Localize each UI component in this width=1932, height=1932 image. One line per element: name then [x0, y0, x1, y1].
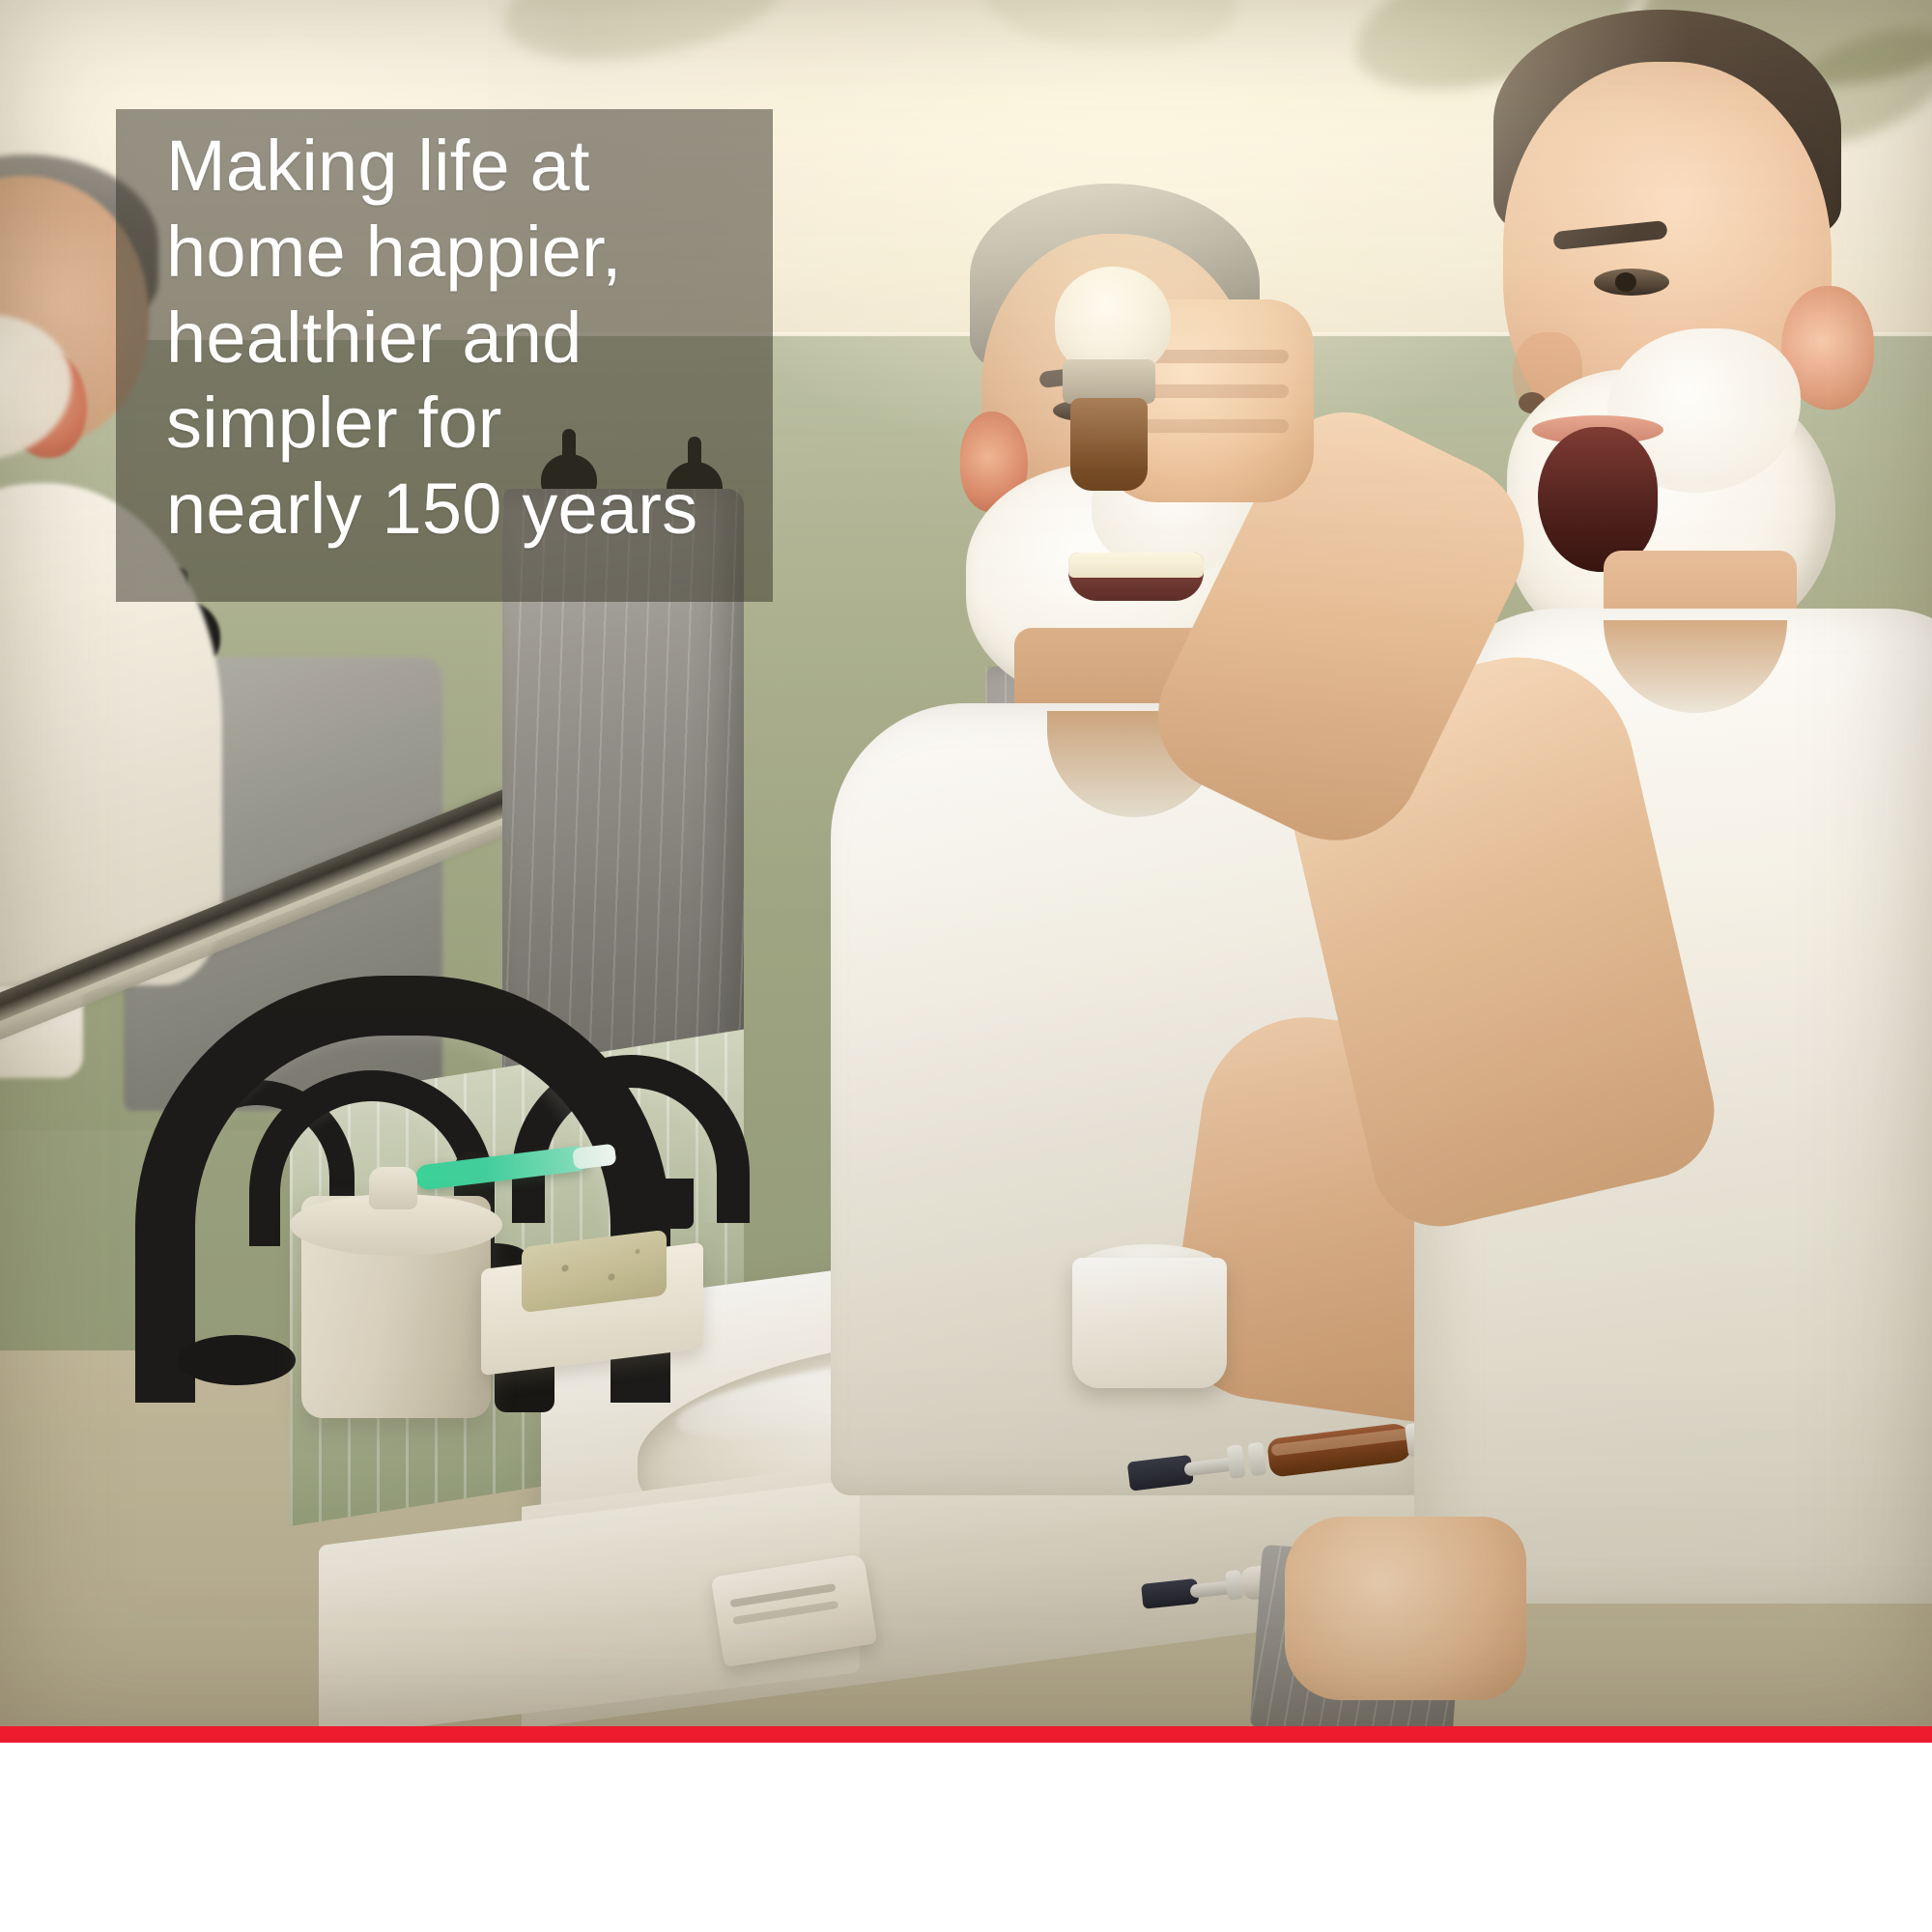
canister-knob: [369, 1167, 417, 1209]
headline-line-3: healthier and: [166, 296, 746, 382]
hero-photo: Making life at home happier, healthier a…: [0, 0, 1932, 1726]
faucet-base: [178, 1335, 296, 1385]
father-teeth: [1068, 553, 1204, 578]
headline-line-2: home happier,: [166, 210, 746, 296]
brand-footer: American Standard: [0, 1743, 1932, 1932]
father-mouth: [1068, 553, 1204, 601]
son-figure: [1449, 10, 1932, 1726]
headline-line-1: Making life at: [166, 124, 746, 210]
shaving-cream-mug: [1072, 1258, 1227, 1388]
advertisement-canvas: Making life at home happier, healthier a…: [0, 0, 1932, 1932]
red-accent-bar: [0, 1726, 1932, 1743]
son-eye: [1594, 269, 1669, 296]
son-lower-hand: [1285, 1517, 1526, 1700]
headline-line-4: simpler for: [166, 381, 746, 467]
headline-line-5: nearly 150 years: [166, 467, 746, 553]
headline-text: Making life at home happier, healthier a…: [166, 124, 746, 553]
shaving-brush-handle: [1070, 398, 1148, 491]
